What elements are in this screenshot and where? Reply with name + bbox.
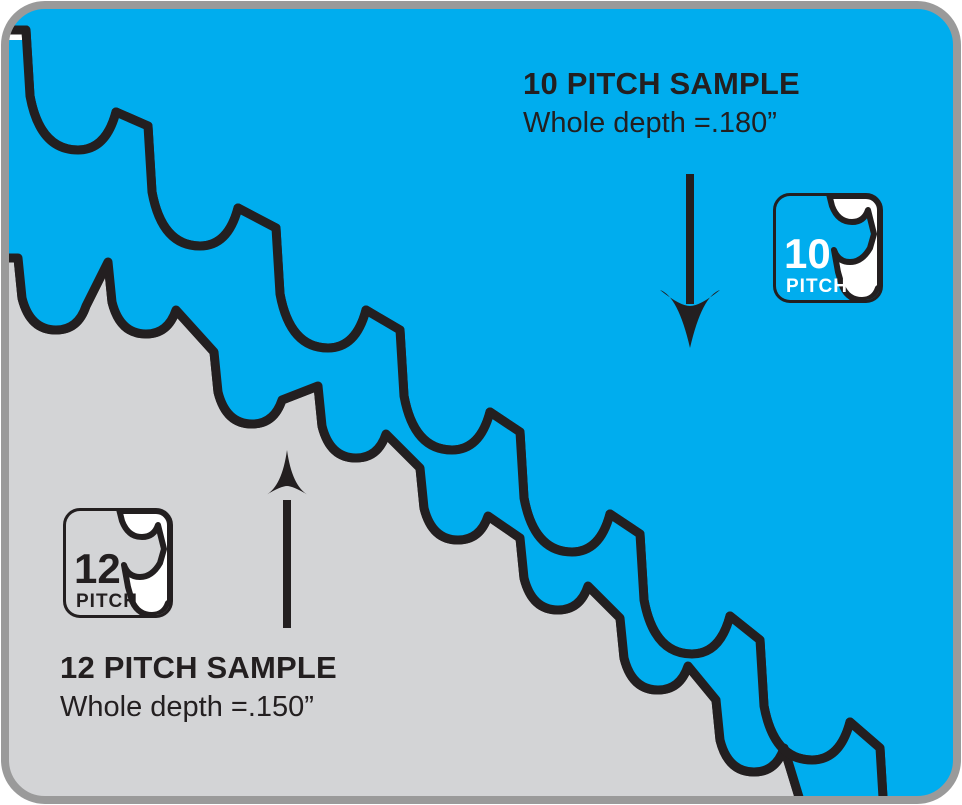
label-12-pitch: 12 PITCH SAMPLE Whole depth =.150” bbox=[60, 652, 337, 724]
diagram-canvas: 10 PITCH 12 PITCH 10 PITCH SAMPLE Whole … bbox=[0, 0, 962, 805]
badge-10-number: 10 bbox=[784, 230, 831, 277]
badge-10-pitch[interactable]: 10 PITCH bbox=[770, 190, 882, 306]
badge-12-number: 12 bbox=[74, 545, 121, 592]
badge-12-pitch[interactable]: 12 PITCH bbox=[60, 505, 172, 621]
label-10-title: 10 PITCH SAMPLE bbox=[523, 68, 800, 101]
label-12-title: 12 PITCH SAMPLE bbox=[60, 652, 337, 685]
label-10-pitch: 10 PITCH SAMPLE Whole depth =.180” bbox=[523, 68, 800, 140]
badge-12-caption: PITCH bbox=[76, 591, 138, 612]
badge-10-caption: PITCH bbox=[786, 276, 848, 297]
label-10-subtitle: Whole depth =.180” bbox=[523, 107, 800, 140]
label-12-subtitle: Whole depth =.150” bbox=[60, 691, 337, 724]
